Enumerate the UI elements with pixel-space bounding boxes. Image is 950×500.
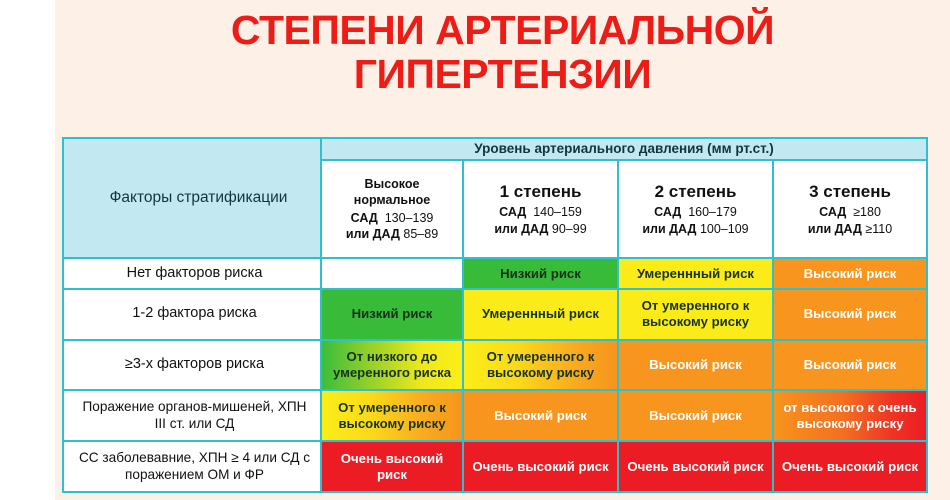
risk-cell-r1-c1 (321, 258, 463, 289)
risk-cell-r3-c4: Высокий риск (773, 340, 927, 391)
table-row: Нет факторов рискаНизкий рискУмереннный … (63, 258, 927, 289)
row-label-5: СС заболевавние, ХПН ≥ 4 или СД с пораже… (63, 441, 321, 492)
row-label-4: Поражение органов-мишеней, ХПН III ст. и… (63, 390, 321, 441)
column-degree-label: 3 степень (777, 181, 923, 203)
systolic-line: САД 160–179 (622, 204, 769, 221)
diastolic-line: или ДАД 85–89 (325, 226, 459, 243)
diastolic-value: 90–99 (552, 222, 587, 236)
systolic-label: САД (819, 205, 846, 219)
row-label-2: 1-2 фактора риска (63, 289, 321, 340)
systolic-label: САД (654, 205, 681, 219)
systolic-value: ≥180 (853, 205, 881, 219)
column-header-3: 2 степеньСАД 160–179или ДАД 100–109 (618, 160, 773, 259)
risk-cell-r2-c3: От умеренного к высокому риску (618, 289, 773, 340)
diastolic-line: или ДАД 90–99 (467, 221, 614, 238)
risk-cell-r1-c3: Умереннный риск (618, 258, 773, 289)
risk-cell-r4-c1: От умеренного к высокому риску (321, 390, 463, 441)
risk-stratification-grid: Факторы стратификацииУровень артериально… (62, 137, 928, 493)
risk-cell-r5-c2: Очень высокий риск (463, 441, 618, 492)
stub-header-cell: Факторы стратификации (63, 138, 321, 258)
risk-cell-r5-c4: Очень высокий риск (773, 441, 927, 492)
risk-cell-r1-c2: Низкий риск (463, 258, 618, 289)
row-label-3: ≥3-х факторов риска (63, 340, 321, 391)
systolic-value: 140–159 (533, 205, 582, 219)
diastolic-label: или ДАД (642, 222, 696, 236)
systolic-label: САД (351, 211, 378, 225)
diastolic-line: или ДАД 100–109 (622, 221, 769, 238)
page-title: СТЕПЕНИ АРТЕРИАЛЬНОЙ ГИПЕРТЕНЗИИ (55, 8, 950, 97)
risk-cell-r3-c3: Высокий риск (618, 340, 773, 391)
diastolic-label: или ДАД (346, 227, 400, 241)
row-label-1: Нет факторов риска (63, 258, 321, 289)
risk-cell-r5-c1: Очень высокий риск (321, 441, 463, 492)
column-degree-label: 1 степень (467, 181, 614, 203)
infographic-page: СТЕПЕНИ АРТЕРИАЛЬНОЙ ГИПЕРТЕНЗИИ Факторы… (0, 0, 950, 500)
risk-cell-r3-c1: От низкого до умеренного риска (321, 340, 463, 391)
column-degree-label: 2 степень (622, 181, 769, 203)
risk-cell-r2-c1: Низкий риск (321, 289, 463, 340)
column-header-1: Высокое нормальноеСАД 130–139или ДАД 85–… (321, 160, 463, 259)
diastolic-line: или ДАД ≥110 (777, 221, 923, 238)
diastolic-label: или ДАД (808, 222, 862, 236)
systolic-line: САД ≥180 (777, 204, 923, 221)
systolic-label: САД (499, 205, 526, 219)
systolic-line: САД 130–139 (325, 210, 459, 227)
systolic-value: 130–139 (385, 211, 434, 225)
column-degree-label: Высокое нормальное (325, 176, 459, 209)
header-row-band: Факторы стратификацииУровень артериально… (63, 138, 927, 160)
risk-cell-r4-c2: Высокий риск (463, 390, 618, 441)
table-row: Поражение органов-мишеней, ХПН III ст. и… (63, 390, 927, 441)
risk-cell-r2-c2: Умереннный риск (463, 289, 618, 340)
diastolic-value: 85–89 (403, 227, 438, 241)
risk-cell-r4-c3: Высокий риск (618, 390, 773, 441)
diastolic-label: или ДАД (494, 222, 548, 236)
column-header-2: 1 степеньСАД 140–159или ДАД 90–99 (463, 160, 618, 259)
table-row: 1-2 фактора рискаНизкий рискУмереннный р… (63, 289, 927, 340)
diastolic-value: ≥110 (865, 222, 892, 236)
risk-cell-r1-c4: Высокий риск (773, 258, 927, 289)
risk-cell-r5-c3: Очень высокий риск (618, 441, 773, 492)
table-row: СС заболевавние, ХПН ≥ 4 или СД с пораже… (63, 441, 927, 492)
column-header-4: 3 степеньСАД ≥180или ДАД ≥110 (773, 160, 927, 259)
risk-cell-r4-c4: от высокого к очень высокому риску (773, 390, 927, 441)
table-row: ≥3-х факторов рискаОт низкого до умеренн… (63, 340, 927, 391)
bp-level-band-header: Уровень артериального давления (мм рт.ст… (321, 138, 927, 160)
hypertension-risk-table: Факторы стратификацииУровень артериально… (62, 137, 926, 493)
risk-cell-r2-c4: Высокий риск (773, 289, 927, 340)
diastolic-value: 100–109 (700, 222, 749, 236)
systolic-line: САД 140–159 (467, 204, 614, 221)
systolic-value: 160–179 (688, 205, 737, 219)
risk-cell-r3-c2: От умеренного к высокому риску (463, 340, 618, 391)
